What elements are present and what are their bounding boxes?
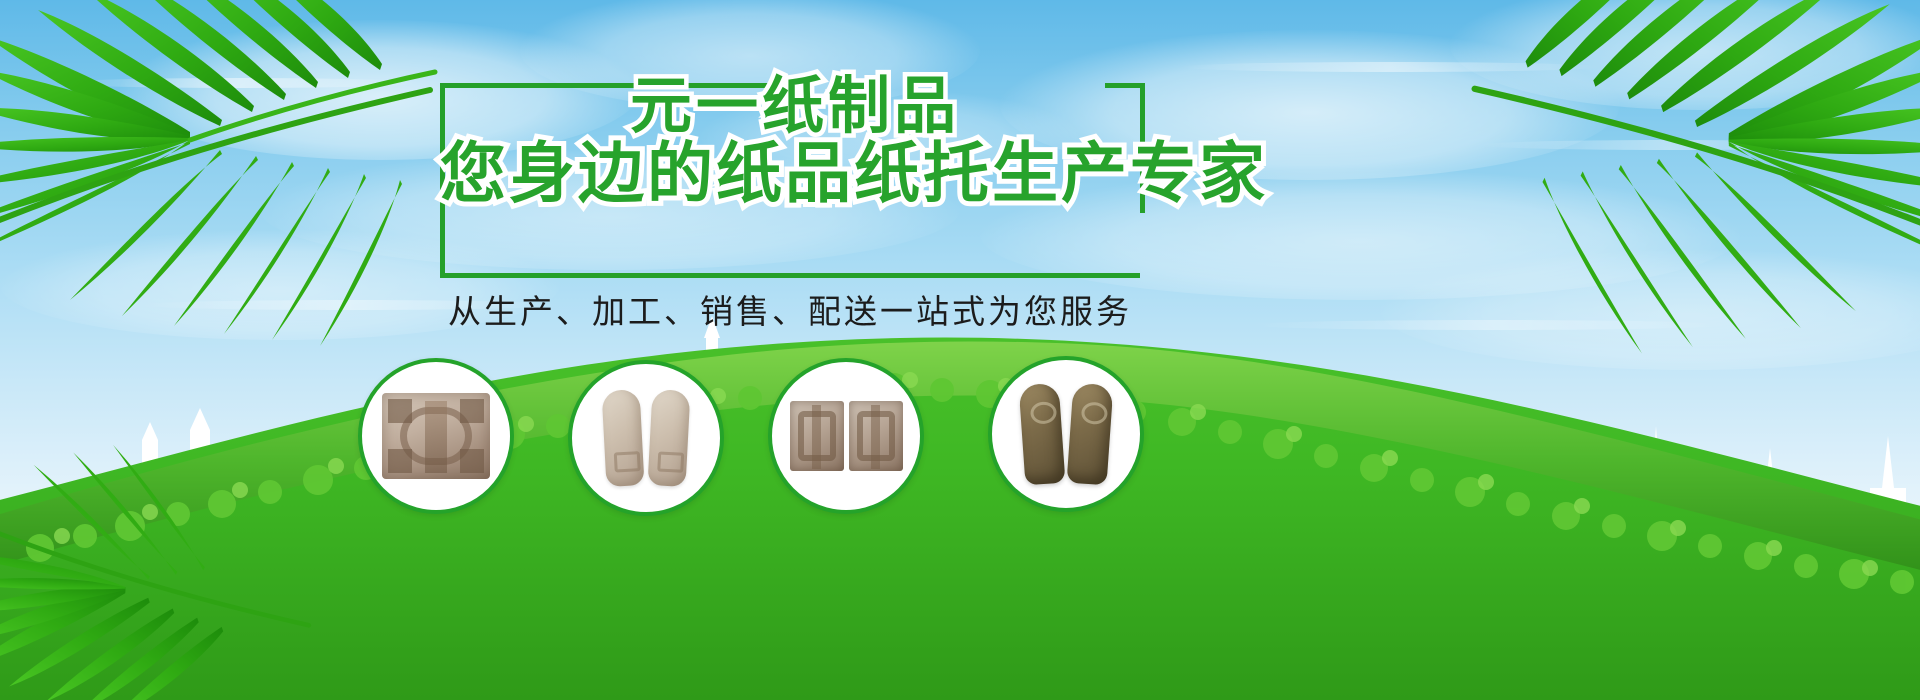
product-circle-1[interactable] bbox=[358, 358, 514, 514]
product-circle-3[interactable] bbox=[768, 358, 924, 514]
molded-pulp-packaging-pair-icon bbox=[790, 401, 903, 471]
promo-banner: 元一纸制品 您身边的纸品纸托生产专家 从生产、加工、销售、配送一站式为您服务 bbox=[0, 0, 1920, 700]
molded-pulp-square-tray-icon bbox=[382, 393, 490, 479]
product-circle-2[interactable] bbox=[568, 360, 724, 516]
paper-pulp-shoe-inserts-dark-icon bbox=[1022, 384, 1110, 484]
product-circle-4[interactable] bbox=[988, 356, 1144, 512]
product-circle-row bbox=[0, 0, 1920, 700]
paper-pulp-shoe-inserts-light-icon bbox=[604, 390, 688, 486]
